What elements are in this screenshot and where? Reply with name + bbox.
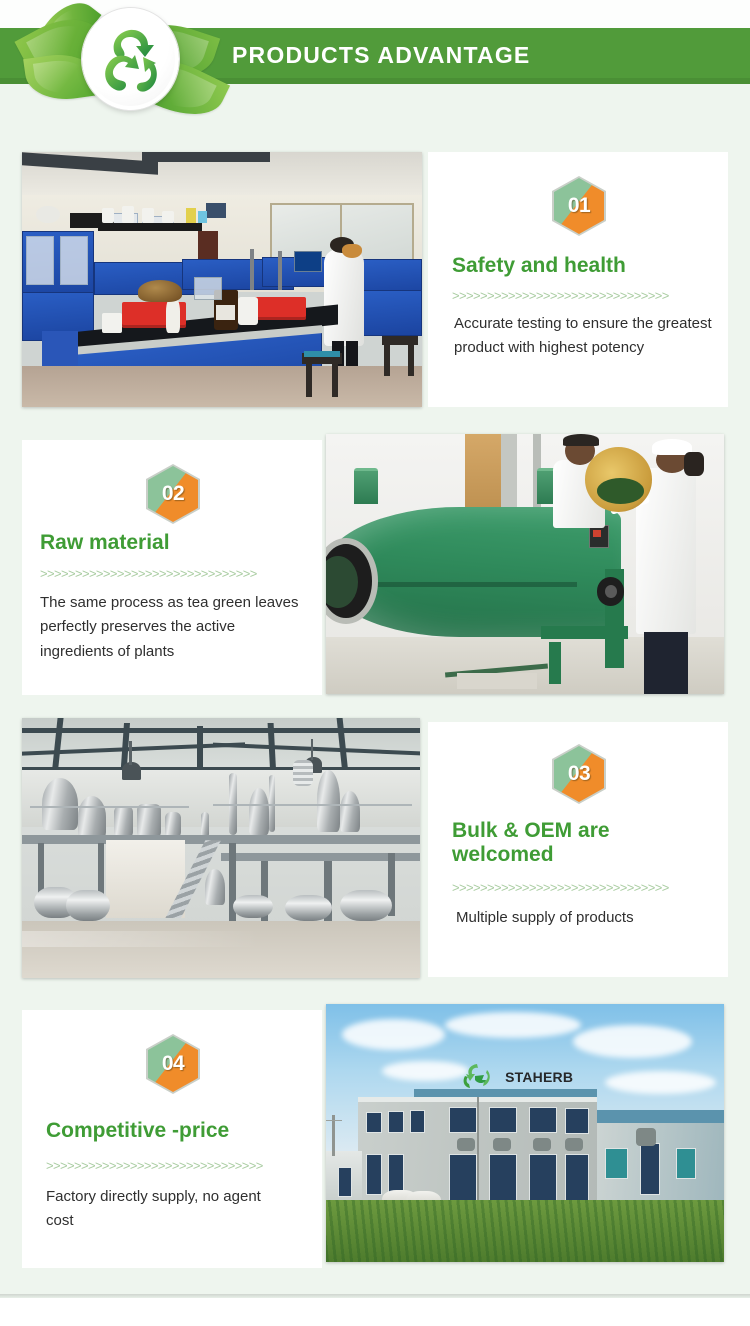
chevron-divider: >>>>>>>>>>>>>>>>>>>>>>>>>>>>>>> [452,880,702,895]
card-number: 04 [146,1034,200,1094]
card-number: 01 [552,176,606,236]
extraction-workshop-photo [22,718,420,978]
logo-disc [82,8,179,110]
chevron-divider: >>>>>>>>>>>>>>>>>>>>>>>>>>>>>>> [452,288,710,303]
card-title: Safety and health [452,254,720,278]
card-description: Factory directly supply, no agent cost [46,1185,286,1234]
card-number-badge: 01 [552,176,606,236]
factory-sign-brand: STAHERB [505,1069,573,1085]
card-title: Bulk & OEM are welcomed [452,819,692,866]
page-header: PRODUCTS ADVANTAGE [0,0,750,120]
chevron-divider: >>>>>>>>>>>>>>>>>>>>>>>>>>>>>>> [40,566,290,581]
card-number-badge: 03 [552,744,606,804]
card-title: Competitive -price [46,1119,318,1143]
card-number-badge: 04 [146,1034,200,1094]
card-number: 03 [552,744,606,804]
card-title: Raw material [40,531,310,555]
factory-building-photo: STAHERB NATURAL INGREDIENTS [326,1004,724,1262]
staherb-leaf-logo [20,0,235,118]
card-description: Multiple supply of products [456,906,676,930]
card-number: 02 [146,464,200,524]
products-advantage-page: PRODUCTS ADVANTAGE [0,0,750,1326]
page-title: PRODUCTS ADVANTAGE [232,42,530,69]
laboratory-testing-photo [22,152,422,407]
card-description: Accurate testing to ensure the greatest … [454,312,716,361]
recycle-leaf-mark-icon [96,24,166,98]
card-description: The same process as tea green leaves per… [40,591,310,664]
card-number-badge: 02 [146,464,200,524]
page-bottom-edge [0,1298,750,1326]
staherb-logo-icon [461,1063,495,1089]
tea-roasting-machine-photo [326,434,724,694]
chevron-divider: >>>>>>>>>>>>>>>>>>>>>>>>>>>>>>> [46,1158,292,1173]
